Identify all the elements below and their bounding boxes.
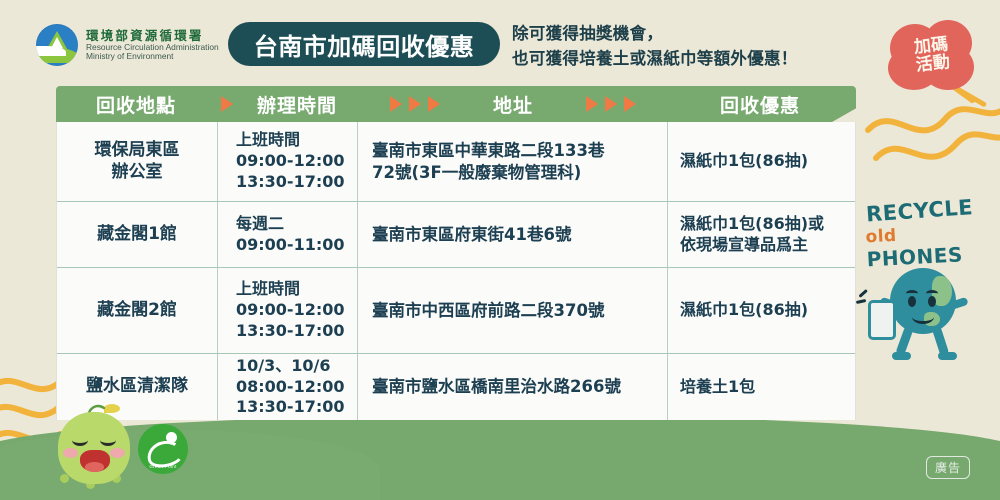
subtitle: 除可獲得抽獎機會， 也可獲得培養土或濕紙巾等額外優惠！ bbox=[512, 22, 798, 72]
recycling-locations-table: 回收地點 辦理時間 地址 回收優惠 環保局東區辦公室上班時間09:00-12:0… bbox=[56, 86, 856, 420]
subtitle-line-2: 也可獲得培養土或濕紙巾等額外優惠！ bbox=[512, 47, 798, 72]
earth-foot-left bbox=[892, 352, 911, 360]
cell-gift: 濕紙巾1包(86抽) bbox=[667, 268, 855, 353]
promo-badge: 加碼 活動 bbox=[886, 14, 978, 96]
cell-address: 臺南市中西區府前路二段370號 bbox=[357, 268, 667, 353]
phones-word: PHONES bbox=[866, 242, 963, 271]
cell-time: 上班時間09:00-12:0013:30-17:00 bbox=[217, 122, 357, 201]
column-header-gift: 回收優惠 bbox=[670, 91, 850, 118]
ministry-emblem-icon bbox=[36, 24, 78, 66]
table-body: 環保局東區辦公室上班時間09:00-12:0013:30-17:00臺南市東區中… bbox=[56, 122, 856, 420]
promo-badge-line-2: 活動 bbox=[915, 53, 951, 74]
mascot-cheek-left bbox=[63, 448, 78, 458]
old-word: old bbox=[865, 226, 897, 248]
earth-foot-right bbox=[938, 352, 957, 360]
logo-caption: Green Point bbox=[138, 464, 188, 469]
promo-badge-text: 加碼 活動 bbox=[882, 9, 982, 100]
cell-time: 10/3、10/608:00-12:0013:30-17:00 bbox=[217, 354, 357, 420]
triangle-right-icon bbox=[409, 96, 421, 112]
cell-place: 環保局東區辦公室 bbox=[57, 122, 217, 201]
page-title-text: 台南市加碼回收優惠 bbox=[254, 27, 475, 62]
cell-address: 臺南市鹽水區橋南里治水路266號 bbox=[357, 354, 667, 420]
triangle-right-icon bbox=[428, 96, 440, 112]
old-phones-words: old PHONES bbox=[865, 217, 997, 272]
table-row: 鹽水區清潔隊10/3、10/608:00-12:0013:30-17:00臺南市… bbox=[57, 354, 855, 420]
earth-smile bbox=[912, 310, 934, 324]
recycle-old-phones-art: RECYCLE old PHONES bbox=[866, 198, 996, 268]
poster-header: 環境部資源循環署 Resource Circulation Administra… bbox=[0, 0, 1000, 84]
cell-gift: 濕紙巾1包(86抽) bbox=[667, 122, 855, 201]
subtitle-line-1: 除可獲得抽獎機會， bbox=[512, 22, 798, 47]
cell-gift: 培養土1包 bbox=[667, 354, 855, 420]
agency-logo: 環境部資源循環署 Resource Circulation Administra… bbox=[36, 24, 219, 66]
cell-place: 藏金閣1館 bbox=[57, 202, 217, 267]
earth-head-icon bbox=[890, 268, 956, 334]
cell-place: 鹽水區清潔隊 bbox=[57, 354, 217, 420]
cell-address: 臺南市東區中華東路二段133巷72號(3F一般廢棄物管理科) bbox=[357, 122, 667, 201]
cell-time: 上班時間09:00-12:0013:30-17:00 bbox=[217, 268, 357, 353]
table-row: 環保局東區辦公室上班時間09:00-12:0013:30-17:00臺南市東區中… bbox=[57, 122, 855, 202]
cell-time: 每週二09:00-11:00 bbox=[217, 202, 357, 267]
earth-eye-left bbox=[908, 296, 916, 307]
cell-address: 臺南市東區府東街41巷6號 bbox=[357, 202, 667, 267]
cell-place: 藏金閣2館 bbox=[57, 268, 217, 353]
earth-eye-right bbox=[928, 296, 936, 307]
column-header-address: 地址 bbox=[474, 91, 552, 118]
column-header-place: 回收地點 bbox=[56, 91, 216, 118]
triangle-right-icon bbox=[221, 96, 233, 112]
poster-canvas: 環境部資源循環署 Resource Circulation Administra… bbox=[0, 0, 1000, 500]
triangle-right-icon bbox=[624, 96, 636, 112]
mascot-eye-right bbox=[100, 434, 116, 446]
header-arrow-group-3 bbox=[552, 96, 670, 112]
header-arrow-group-2 bbox=[356, 96, 474, 112]
cell-gift: 濕紙巾1包(86抽)或依現場宣導品爲主 bbox=[667, 202, 855, 267]
mascot-cheek-right bbox=[110, 448, 125, 458]
mascot-body-icon bbox=[58, 412, 130, 484]
triangle-right-icon bbox=[605, 96, 617, 112]
phone-icon bbox=[868, 300, 896, 340]
table-row: 藏金閣2館上班時間09:00-12:0013:30-17:00臺南市中西區府前路… bbox=[57, 268, 855, 354]
triangle-right-icon bbox=[586, 96, 598, 112]
agency-name-cn: 環境部資源循環署 bbox=[86, 29, 219, 43]
table-row: 藏金閣1館每週二09:00-11:00臺南市東區府東街41巷6號濕紙巾1包(86… bbox=[57, 202, 855, 268]
table-header-row: 回收地點 辦理時間 地址 回收優惠 bbox=[56, 86, 856, 122]
column-header-time: 辦理時間 bbox=[238, 91, 356, 118]
mascot-tongue bbox=[85, 462, 104, 472]
green-program-logo: Green Point bbox=[138, 424, 188, 474]
triangle-right-icon bbox=[390, 96, 402, 112]
ad-label: 廣告 bbox=[926, 456, 970, 479]
mascot-eye-left bbox=[72, 434, 88, 446]
header-arrow-group-1 bbox=[216, 96, 238, 112]
agency-name-en-line2: Ministry of Environment bbox=[86, 52, 219, 61]
page-title: 台南市加碼回收優惠 bbox=[228, 22, 500, 66]
